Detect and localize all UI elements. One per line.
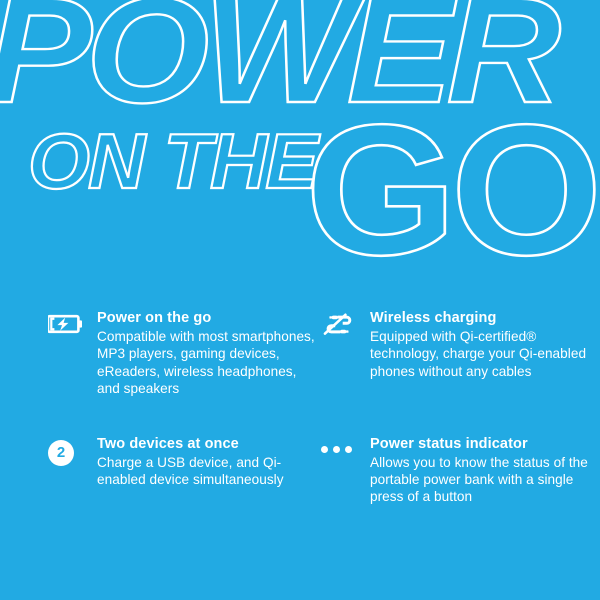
feature-title: Power status indicator	[370, 436, 600, 453]
hero-line-on-the: ON THE	[28, 116, 316, 207]
battery-bolt-icon	[48, 310, 88, 344]
dot-3	[345, 446, 352, 453]
number-two-badge-icon: 2	[48, 436, 88, 470]
feature-description: Allows you to know the status of the por…	[370, 454, 600, 506]
feature-item-wireless-charging: Wireless charging Equipped with Qi-certi…	[321, 310, 600, 398]
dot-1	[321, 446, 328, 453]
feature-title: Wireless charging	[370, 310, 600, 327]
feature-body: Power status indicator Allows you to kno…	[370, 436, 600, 506]
hero-line-power: POWER	[0, 0, 555, 137]
hero-headline: POWER ON THE GO	[0, 0, 600, 285]
three-dots-icon	[321, 436, 361, 470]
feature-description: Charge a USB device, and Qi-enabled devi…	[97, 454, 321, 489]
hero-line-go: GO	[305, 84, 596, 285]
feature-title: Two devices at once	[97, 436, 321, 453]
feature-list: Power on the go Compatible with most sma…	[0, 310, 600, 530]
feature-title: Power on the go	[97, 310, 321, 327]
dot-2	[333, 446, 340, 453]
three-dots-group	[321, 446, 352, 453]
feature-body: Power on the go Compatible with most sma…	[97, 310, 321, 398]
feature-body: Wireless charging Equipped with Qi-certi…	[370, 310, 600, 380]
no-cable-icon	[321, 310, 361, 344]
promo-poster: POWER ON THE GO Power on the go Compatib…	[0, 0, 600, 600]
number-two-badge-label: 2	[48, 440, 74, 466]
feature-item-power-status-indicator: Power status indicator Allows you to kno…	[321, 436, 600, 506]
feature-description: Compatible with most smartphones, MP3 pl…	[97, 328, 321, 398]
feature-item-two-devices-at-once: 2 Two devices at once Charge a USB devic…	[48, 436, 321, 506]
feature-description: Equipped with Qi-certified® technology, …	[370, 328, 600, 380]
feature-item-power-on-the-go: Power on the go Compatible with most sma…	[48, 310, 321, 398]
feature-body: Two devices at once Charge a USB device,…	[97, 436, 321, 489]
